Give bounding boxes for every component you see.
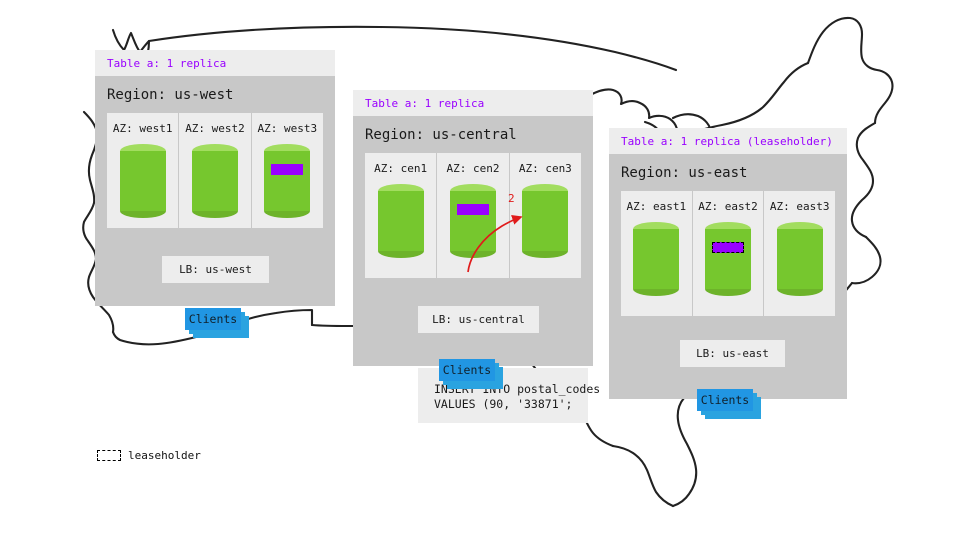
region-body-us-central: Region: us-central AZ: cen1 AZ: cen2 [353,116,593,366]
region-header-us-central: Table a: 1 replica [353,90,593,116]
az-cell-west2[interactable]: AZ: west2 [179,113,251,228]
az-cell-east2[interactable]: AZ: east2 [693,191,765,316]
az-label-west3: AZ: west3 [258,122,318,135]
az-strip-us-central: AZ: cen1 AZ: cen2 [365,153,581,278]
legend: leaseholder [97,449,201,462]
cylinder-body [120,151,166,211]
az-cell-cen1[interactable]: AZ: cen1 [365,153,437,278]
cylinder-body [450,191,496,251]
diagram-canvas: Table a: 1 replica Region: us-west AZ: w… [0,0,960,540]
az-label-west1: AZ: west1 [113,122,173,135]
region-title-us-central: Region: us-central [353,116,593,153]
replica-band-cen2 [457,204,489,215]
az-label-cen3: AZ: cen3 [519,162,572,175]
az-cell-east1[interactable]: AZ: east1 [621,191,693,316]
db-node-west1[interactable] [120,144,166,212]
az-label-east1: AZ: east1 [627,200,687,213]
az-cell-cen2[interactable]: AZ: cen2 [437,153,509,278]
replica-band-west3 [271,164,303,175]
region-header-us-east: Table a: 1 replica (leaseholder) [609,128,847,154]
region-title-us-east: Region: us-east [609,154,847,191]
az-strip-us-west: AZ: west1 AZ: west2 AZ [107,113,323,228]
db-node-cen3[interactable] [522,184,568,258]
cylinder-body [264,151,310,211]
arrow-hop-label: 2 [508,192,515,205]
clients-label-us-west: Clients [185,308,241,330]
clients-label-us-central: Clients [439,359,495,381]
cylinder-body [192,151,238,211]
az-label-east2: AZ: east2 [698,200,758,213]
clients-stack-us-central[interactable]: Clients [439,359,503,389]
db-node-west2[interactable] [192,144,238,212]
cylinder-body [522,191,568,251]
load-balancer-us-central[interactable]: LB: us-central [418,306,539,333]
region-panel-us-central: Table a: 1 replica Region: us-central AZ… [353,90,593,366]
clients-stack-us-west[interactable]: Clients [185,308,249,338]
region-body-us-east: Region: us-east AZ: east1 AZ: east2 [609,154,847,399]
leaseholder-swatch-icon [97,450,121,461]
cylinder-body [777,229,823,289]
az-strip-us-east: AZ: east1 AZ: east2 [621,191,835,316]
az-cell-east3[interactable]: AZ: east3 [764,191,835,316]
db-node-east2[interactable] [705,222,751,296]
clients-stack-us-east[interactable]: Clients [697,389,761,419]
az-label-west2: AZ: west2 [185,122,245,135]
az-cell-cen3[interactable]: AZ: cen3 [510,153,581,278]
leaseholder-band-east2 [712,242,744,253]
db-node-cen1[interactable] [378,184,424,258]
legend-label-leaseholder: leaseholder [128,449,201,462]
load-balancer-us-west[interactable]: LB: us-west [162,256,269,283]
region-panel-us-east: Table a: 1 replica (leaseholder) Region:… [609,128,847,399]
cylinder-body [705,229,751,289]
db-node-west3[interactable] [264,144,310,212]
region-body-us-west: Region: us-west AZ: west1 AZ: west2 [95,76,335,306]
load-balancer-us-east[interactable]: LB: us-east [680,340,785,367]
az-cell-west3[interactable]: AZ: west3 [252,113,323,228]
az-label-east3: AZ: east3 [770,200,830,213]
az-label-cen2: AZ: cen2 [447,162,500,175]
az-label-cen1: AZ: cen1 [374,162,427,175]
region-panel-us-west: Table a: 1 replica Region: us-west AZ: w… [95,50,335,306]
db-node-east3[interactable] [777,222,823,296]
cylinder-body [633,229,679,289]
region-header-us-west: Table a: 1 replica [95,50,335,76]
region-title-us-west: Region: us-west [95,76,335,113]
clients-label-us-east: Clients [697,389,753,411]
az-cell-west1[interactable]: AZ: west1 [107,113,179,228]
cylinder-body [378,191,424,251]
db-node-east1[interactable] [633,222,679,296]
db-node-cen2[interactable] [450,184,496,258]
